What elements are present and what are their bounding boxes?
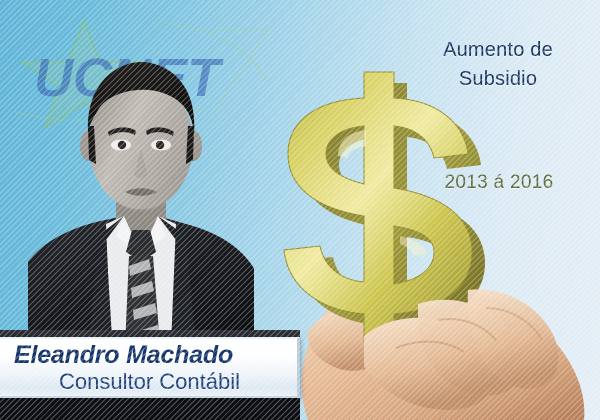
consultant-title: Consultor Contábil xyxy=(14,369,287,394)
headline: Aumento de Subsidio xyxy=(404,36,592,94)
nameplate: Eleandro Machado Consultor Contábil xyxy=(0,337,300,398)
advertisement-banner: UCNET xyxy=(0,0,600,420)
man-in-suit-portrait xyxy=(28,40,254,370)
headline-line-2: Subsidio xyxy=(404,65,592,94)
consultant-name: Eleandro Machado xyxy=(14,341,287,369)
headline-line-1: Aumento de xyxy=(443,39,553,61)
date-range-text: 2013 á 2016 xyxy=(404,172,594,194)
